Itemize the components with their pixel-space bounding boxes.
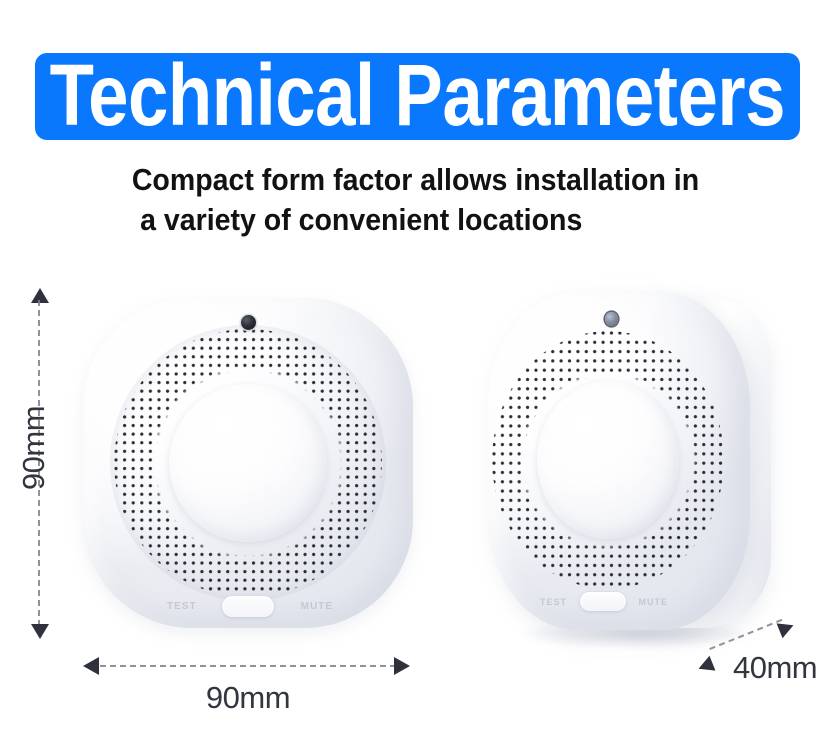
- arrow-down-icon: [31, 624, 49, 639]
- infographic-page: Technical Parameters Compact form factor…: [0, 0, 831, 731]
- subtitle-line-2: a variety of convenient locations: [33, 200, 798, 240]
- test-label: TEST: [540, 597, 567, 607]
- detector-center-disc: [537, 381, 679, 539]
- detector-center-disc: [169, 384, 327, 542]
- smoke-detector-front: TEST MUTE: [83, 298, 413, 628]
- dimension-depth-label: 40mm: [733, 650, 817, 686]
- dimension-width-label: 90mm: [100, 680, 396, 716]
- subtitle-line-1: Compact form factor allows installation …: [132, 162, 699, 197]
- page-title: Technical Parameters: [50, 53, 785, 140]
- arrow-right-icon: [394, 657, 410, 675]
- test-mute-button[interactable]: [580, 592, 626, 611]
- arrow-left-icon: [83, 657, 99, 675]
- dimension-width-line: [100, 665, 396, 669]
- led-indicator-icon: [605, 312, 618, 326]
- smoke-detector-angled: TEST MUTE: [488, 292, 786, 637]
- test-mute-button[interactable]: [222, 596, 274, 617]
- led-indicator-icon: [241, 315, 256, 330]
- mute-label: MUTE: [301, 601, 333, 612]
- mute-label: MUTE: [639, 597, 669, 607]
- product-stage: 90mm TEST MUTE TEST MUTE: [0, 250, 831, 731]
- arrow-depth-start-icon: [696, 656, 716, 676]
- test-label: TEST: [167, 601, 197, 612]
- dimension-height-label: 90mm: [16, 406, 52, 490]
- title-banner: Technical Parameters: [35, 53, 800, 140]
- subtitle: Compact form factor allows installation …: [33, 160, 798, 240]
